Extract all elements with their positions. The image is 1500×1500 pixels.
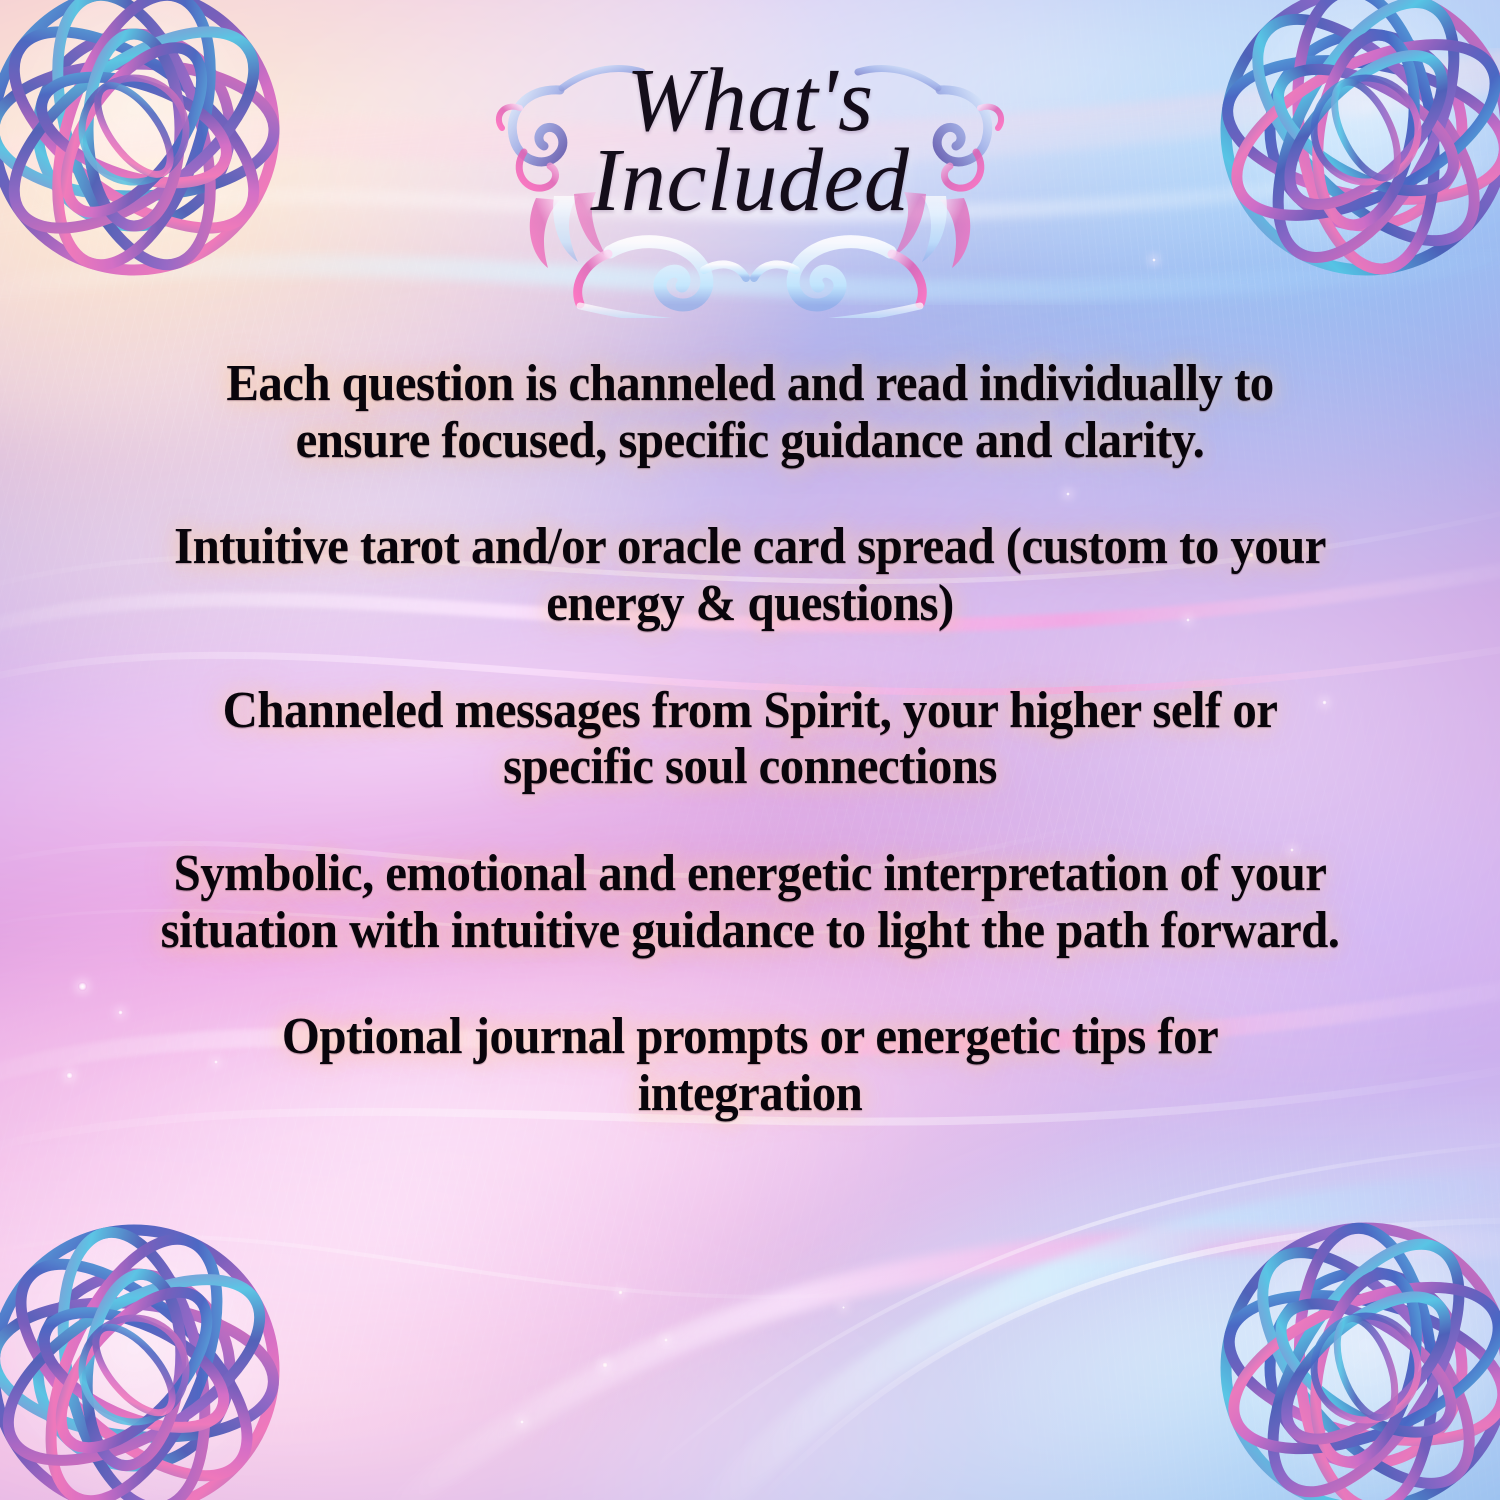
sacred-geometry-sphere-icon [0, 1220, 284, 1500]
title-line-2: Included [0, 138, 1500, 224]
list-item: Intuitive tarot and/or oracle card sprea… [139, 519, 1361, 632]
list-item: Symbolic, emotional and energetic interp… [139, 846, 1361, 959]
list-item: Optional journal prompts or energetic ti… [139, 1009, 1361, 1122]
page-title: What's Included [0, 58, 1500, 225]
list-item: Each question is channeled and read indi… [139, 356, 1361, 469]
title-block: What's Included [0, 58, 1500, 225]
list-item: Channeled messages from Spirit, your hig… [139, 683, 1361, 796]
sacred-geometry-sphere-icon [1216, 1218, 1500, 1500]
poster-canvas: What's Included Each question is channel… [0, 0, 1500, 1500]
included-items-list: Each question is channeled and read indi… [100, 356, 1400, 1123]
